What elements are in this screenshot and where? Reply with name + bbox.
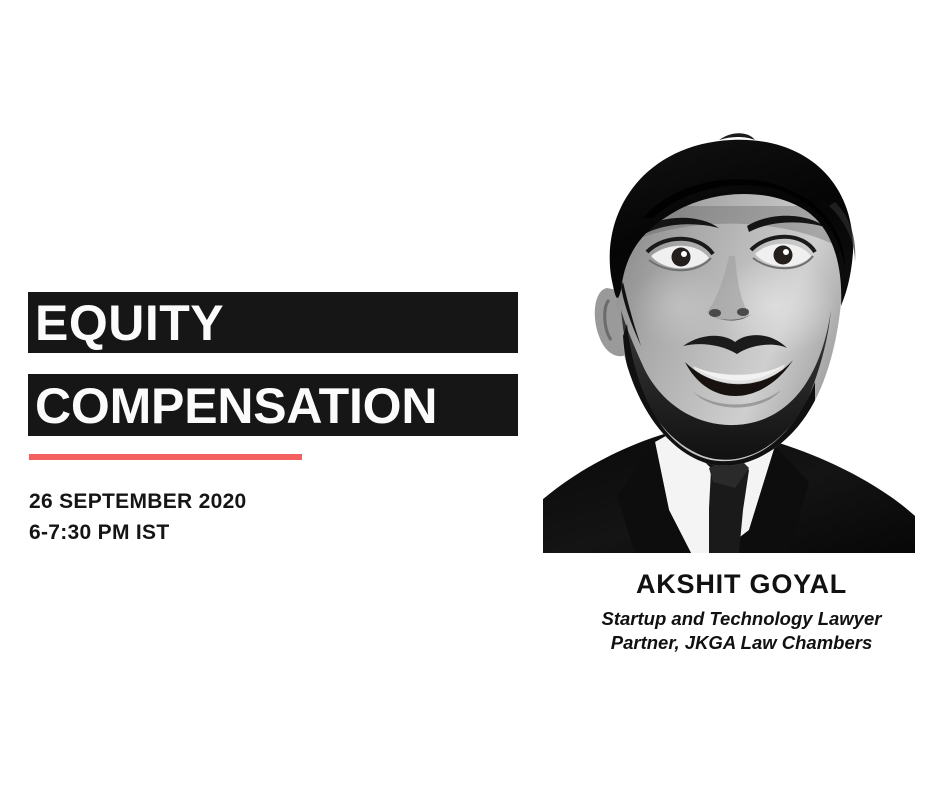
speaker-role: Startup and Technology Lawyer Partner, J… (543, 607, 940, 653)
speaker-photo-illustration (543, 110, 940, 553)
speaker-role-line-1: Startup and Technology Lawyer (543, 607, 940, 630)
speaker-photo (543, 110, 940, 553)
title-bar-gap (28, 353, 518, 374)
poster-canvas: EQUITY COMPENSATION 26 SEPTEMBER 2020 6-… (0, 0, 940, 788)
title-line-1: EQUITY (28, 292, 518, 353)
speaker-name: AKSHIT GOYAL (543, 568, 940, 600)
poster-title: EQUITY COMPENSATION (28, 292, 518, 436)
event-time: 6-7:30 PM IST (29, 517, 247, 548)
event-date: 26 SEPTEMBER 2020 (29, 486, 247, 517)
title-red-rule (29, 454, 302, 460)
footer-logo-bar: supreme incubator L A W Y E R E D TM (0, 700, 940, 788)
speaker-block: AKSHIT GOYAL Startup and Technology Lawy… (543, 568, 940, 654)
title-line-2: COMPENSATION (28, 374, 518, 436)
speaker-role-line-2: Partner, JKGA Law Chambers (543, 631, 940, 654)
event-datetime: 26 SEPTEMBER 2020 6-7:30 PM IST (29, 486, 247, 548)
